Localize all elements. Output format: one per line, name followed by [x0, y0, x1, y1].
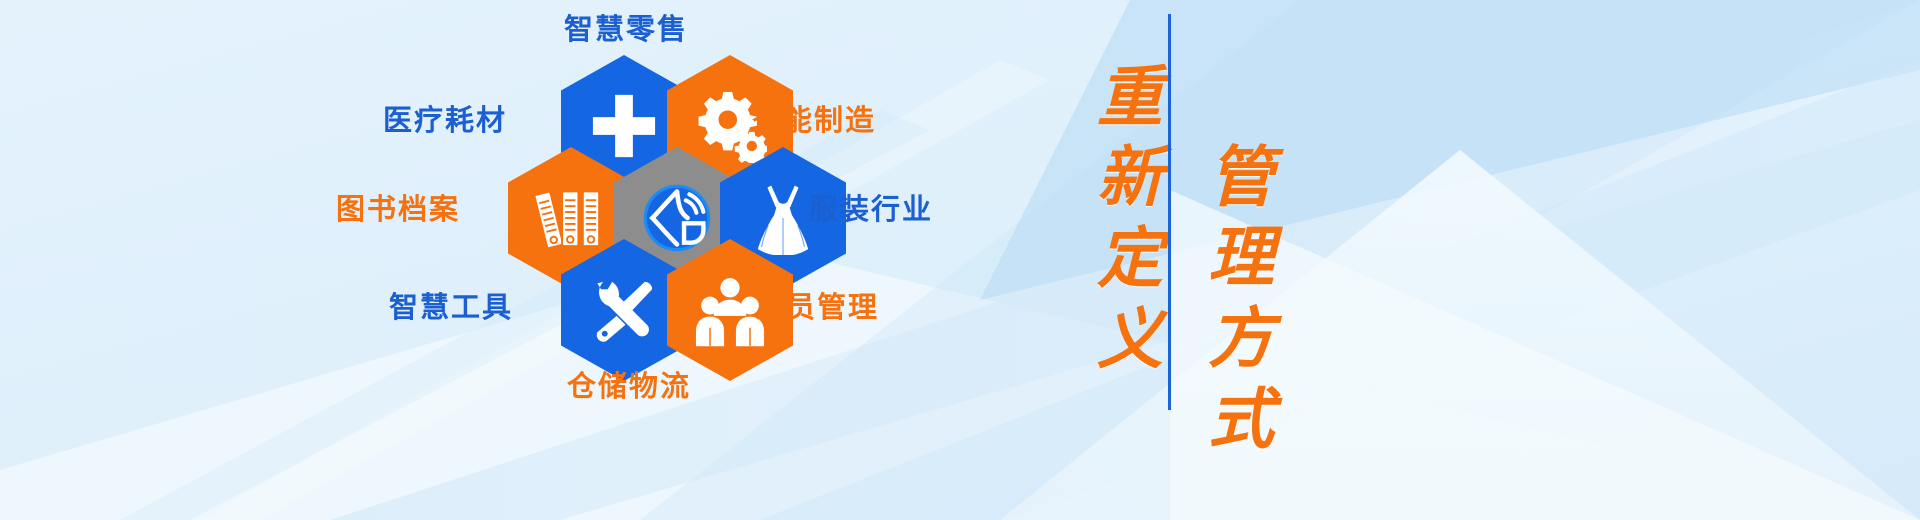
label-apparel: 服装行业: [809, 196, 933, 225]
slogan-char: 理: [1208, 219, 1274, 300]
slogan-divider: [1168, 14, 1171, 410]
hexagon-cluster: [455, 55, 795, 375]
label-tools: 智慧工具: [389, 294, 513, 323]
slogan-char: 管: [1208, 139, 1274, 220]
slogan-char: 义: [1097, 301, 1163, 382]
rfid-antenna-icon: [633, 174, 721, 262]
medical-cross-icon: [587, 89, 661, 163]
slogan-char: 定: [1097, 220, 1163, 301]
label-medical: 医疗耗材: [383, 107, 507, 136]
label-people: 人员管理: [755, 294, 879, 323]
label-manufacturing: 智能制造: [752, 107, 876, 136]
banner-root: 智慧零售 医疗耗材 智能制造 图书档案 服装行业 智慧工具 人员管理 仓储物流 …: [0, 0, 1920, 520]
tools-icon: [587, 273, 661, 347]
slogan-char: 式: [1208, 381, 1274, 462]
slogan-char: 重: [1097, 59, 1163, 140]
binders-icon: [534, 181, 608, 255]
label-logistics: 仓储物流: [567, 373, 691, 402]
label-retail: 智慧零售: [564, 16, 688, 45]
slogan-char: 方: [1208, 300, 1274, 381]
slogan-char: 新: [1097, 139, 1163, 220]
label-archive: 图书档案: [336, 196, 460, 225]
slogan-column-right: 管 理 方 式: [1186, 0, 1296, 520]
background-decoration: [0, 0, 1920, 520]
